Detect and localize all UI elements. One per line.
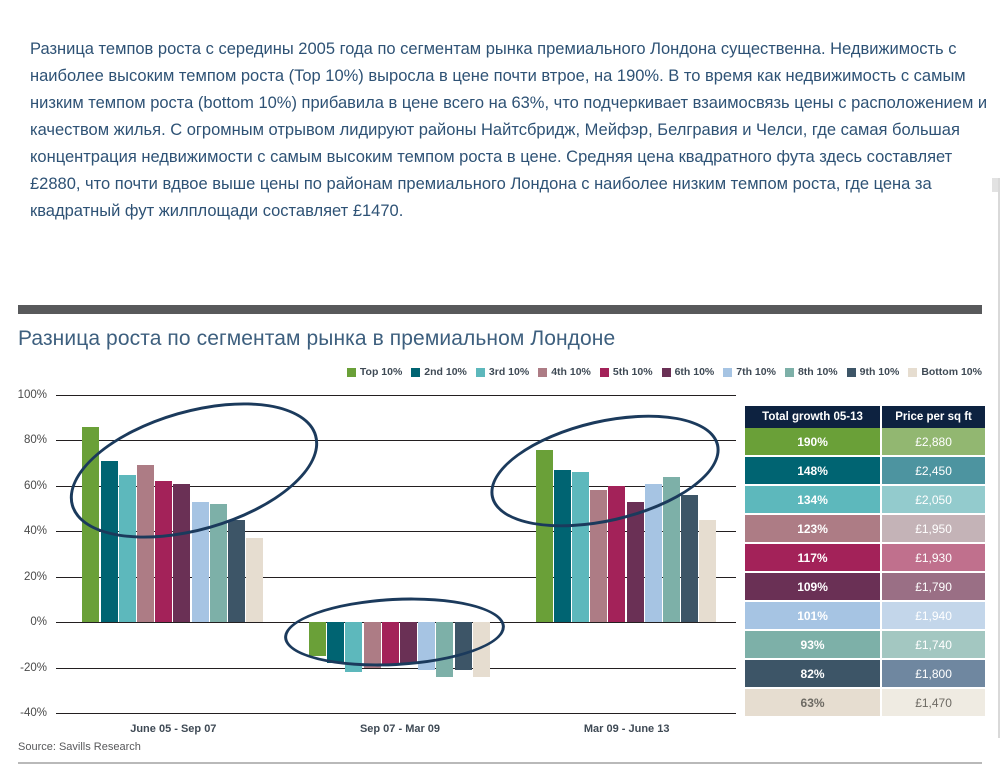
legend-swatch-icon xyxy=(723,368,732,377)
y-axis-tick: 0% xyxy=(30,616,56,628)
x-axis-label-1: Sep 07 - Mar 09 xyxy=(360,723,440,735)
table-cell-price: £1,790 xyxy=(881,572,985,601)
table-header-growth: Total growth 05-13 xyxy=(745,406,881,428)
table-row: 148%£2,450 xyxy=(745,456,985,485)
table-row: 63%£1,470 xyxy=(745,688,985,717)
table-cell-growth: 63% xyxy=(745,688,881,717)
legend-swatch-icon xyxy=(411,368,420,377)
x-axis-label-0: June 05 - Sep 07 xyxy=(130,723,216,735)
legend-label: 9th 10% xyxy=(860,366,900,378)
title-rule xyxy=(18,305,982,314)
legend-swatch-icon xyxy=(847,368,856,377)
table-row: 117%£1,930 xyxy=(745,543,985,572)
source-note: Source: Savills Research xyxy=(18,741,141,753)
plot-area: 100%80%60%40%20%0%-20%-40%June 05 - Sep … xyxy=(56,395,736,713)
legend-swatch-icon xyxy=(476,368,485,377)
legend-swatch-icon xyxy=(662,368,671,377)
table-cell-price: £1,950 xyxy=(881,514,985,543)
y-axis-tick: 40% xyxy=(24,525,56,537)
bar-2-8[interactable] xyxy=(681,495,698,622)
table-cell-growth: 82% xyxy=(745,659,881,688)
table-cell-price: £1,800 xyxy=(881,659,985,688)
chart-title: Разница роста по сегментам рынка в преми… xyxy=(18,327,615,351)
table-row: 93%£1,740 xyxy=(745,630,985,659)
legend-item-0[interactable]: Top 10% xyxy=(347,366,402,378)
table-cell-price: £2,450 xyxy=(881,456,985,485)
legend-item-7[interactable]: 8th 10% xyxy=(785,366,838,378)
bar-2-5[interactable] xyxy=(627,502,644,622)
legend-swatch-icon xyxy=(347,368,356,377)
legend-item-2[interactable]: 3rd 10% xyxy=(476,366,529,378)
table-cell-price: £2,880 xyxy=(881,428,985,456)
table-cell-price: £2,050 xyxy=(881,485,985,514)
legend-label: Bottom 10% xyxy=(921,366,982,378)
legend-swatch-icon xyxy=(908,368,917,377)
table-cell-growth: 117% xyxy=(745,543,881,572)
gridline xyxy=(56,395,736,396)
y-axis-tick: 60% xyxy=(24,480,56,492)
table-header-price: Price per sq ft xyxy=(881,406,985,428)
y-axis-tick: -20% xyxy=(20,662,56,674)
legend-item-4[interactable]: 5th 10% xyxy=(600,366,653,378)
table-cell-price: £1,740 xyxy=(881,630,985,659)
legend-item-5[interactable]: 6th 10% xyxy=(662,366,715,378)
table-cell-price: £1,470 xyxy=(881,688,985,717)
legend-label: 5th 10% xyxy=(613,366,653,378)
legend-label: 7th 10% xyxy=(736,366,776,378)
gridline xyxy=(56,713,736,714)
table-cell-growth: 148% xyxy=(745,456,881,485)
table-row: 190%£2,880 xyxy=(745,428,985,456)
table-cell-growth: 123% xyxy=(745,514,881,543)
legend-item-6[interactable]: 7th 10% xyxy=(723,366,776,378)
table-cell-price: £1,930 xyxy=(881,543,985,572)
table-row: 109%£1,790 xyxy=(745,572,985,601)
legend-label: 2nd 10% xyxy=(424,366,467,378)
legend-item-1[interactable]: 2nd 10% xyxy=(411,366,467,378)
table-header-row: Total growth 05-13 Price per sq ft xyxy=(745,406,985,428)
table-row: 82%£1,800 xyxy=(745,659,985,688)
legend-label: 3rd 10% xyxy=(489,366,529,378)
growth-price-table: Total growth 05-13 Price per sq ft 190%£… xyxy=(745,406,985,718)
intro-paragraph: Разница темпов роста с середины 2005 год… xyxy=(30,36,990,225)
y-axis-tick: -40% xyxy=(20,707,56,719)
footer-rule xyxy=(18,762,982,764)
table-cell-growth: 93% xyxy=(745,630,881,659)
legend-swatch-icon xyxy=(600,368,609,377)
legend-item-9[interactable]: Bottom 10% xyxy=(908,366,982,378)
legend-label: 6th 10% xyxy=(675,366,715,378)
y-axis-tick: 100% xyxy=(18,389,56,401)
x-axis-label-2: Mar 09 - June 13 xyxy=(584,723,670,735)
legend-swatch-icon xyxy=(785,368,794,377)
bar-2-9[interactable] xyxy=(699,520,716,622)
y-axis-tick: 20% xyxy=(24,571,56,583)
chart-legend: Top 10%2nd 10%3rd 10%4th 10%5th 10%6th 1… xyxy=(320,366,982,378)
table-cell-price: £1,940 xyxy=(881,601,985,630)
legend-item-8[interactable]: 9th 10% xyxy=(847,366,900,378)
gridline xyxy=(56,668,736,669)
bar-0-8[interactable] xyxy=(228,520,245,622)
bar-0-9[interactable] xyxy=(246,538,263,622)
legend-label: 8th 10% xyxy=(798,366,838,378)
legend-label: Top 10% xyxy=(360,366,402,378)
table-row: 134%£2,050 xyxy=(745,485,985,514)
y-axis-tick: 80% xyxy=(24,434,56,446)
table-cell-growth: 134% xyxy=(745,485,881,514)
table-cell-growth: 190% xyxy=(745,428,881,456)
legend-item-3[interactable]: 4th 10% xyxy=(538,366,591,378)
table-row: 123%£1,950 xyxy=(745,514,985,543)
table-row: 101%£1,940 xyxy=(745,601,985,630)
table-cell-growth: 101% xyxy=(745,601,881,630)
table-cell-growth: 109% xyxy=(745,572,881,601)
legend-swatch-icon xyxy=(538,368,547,377)
legend-label: 4th 10% xyxy=(551,366,591,378)
